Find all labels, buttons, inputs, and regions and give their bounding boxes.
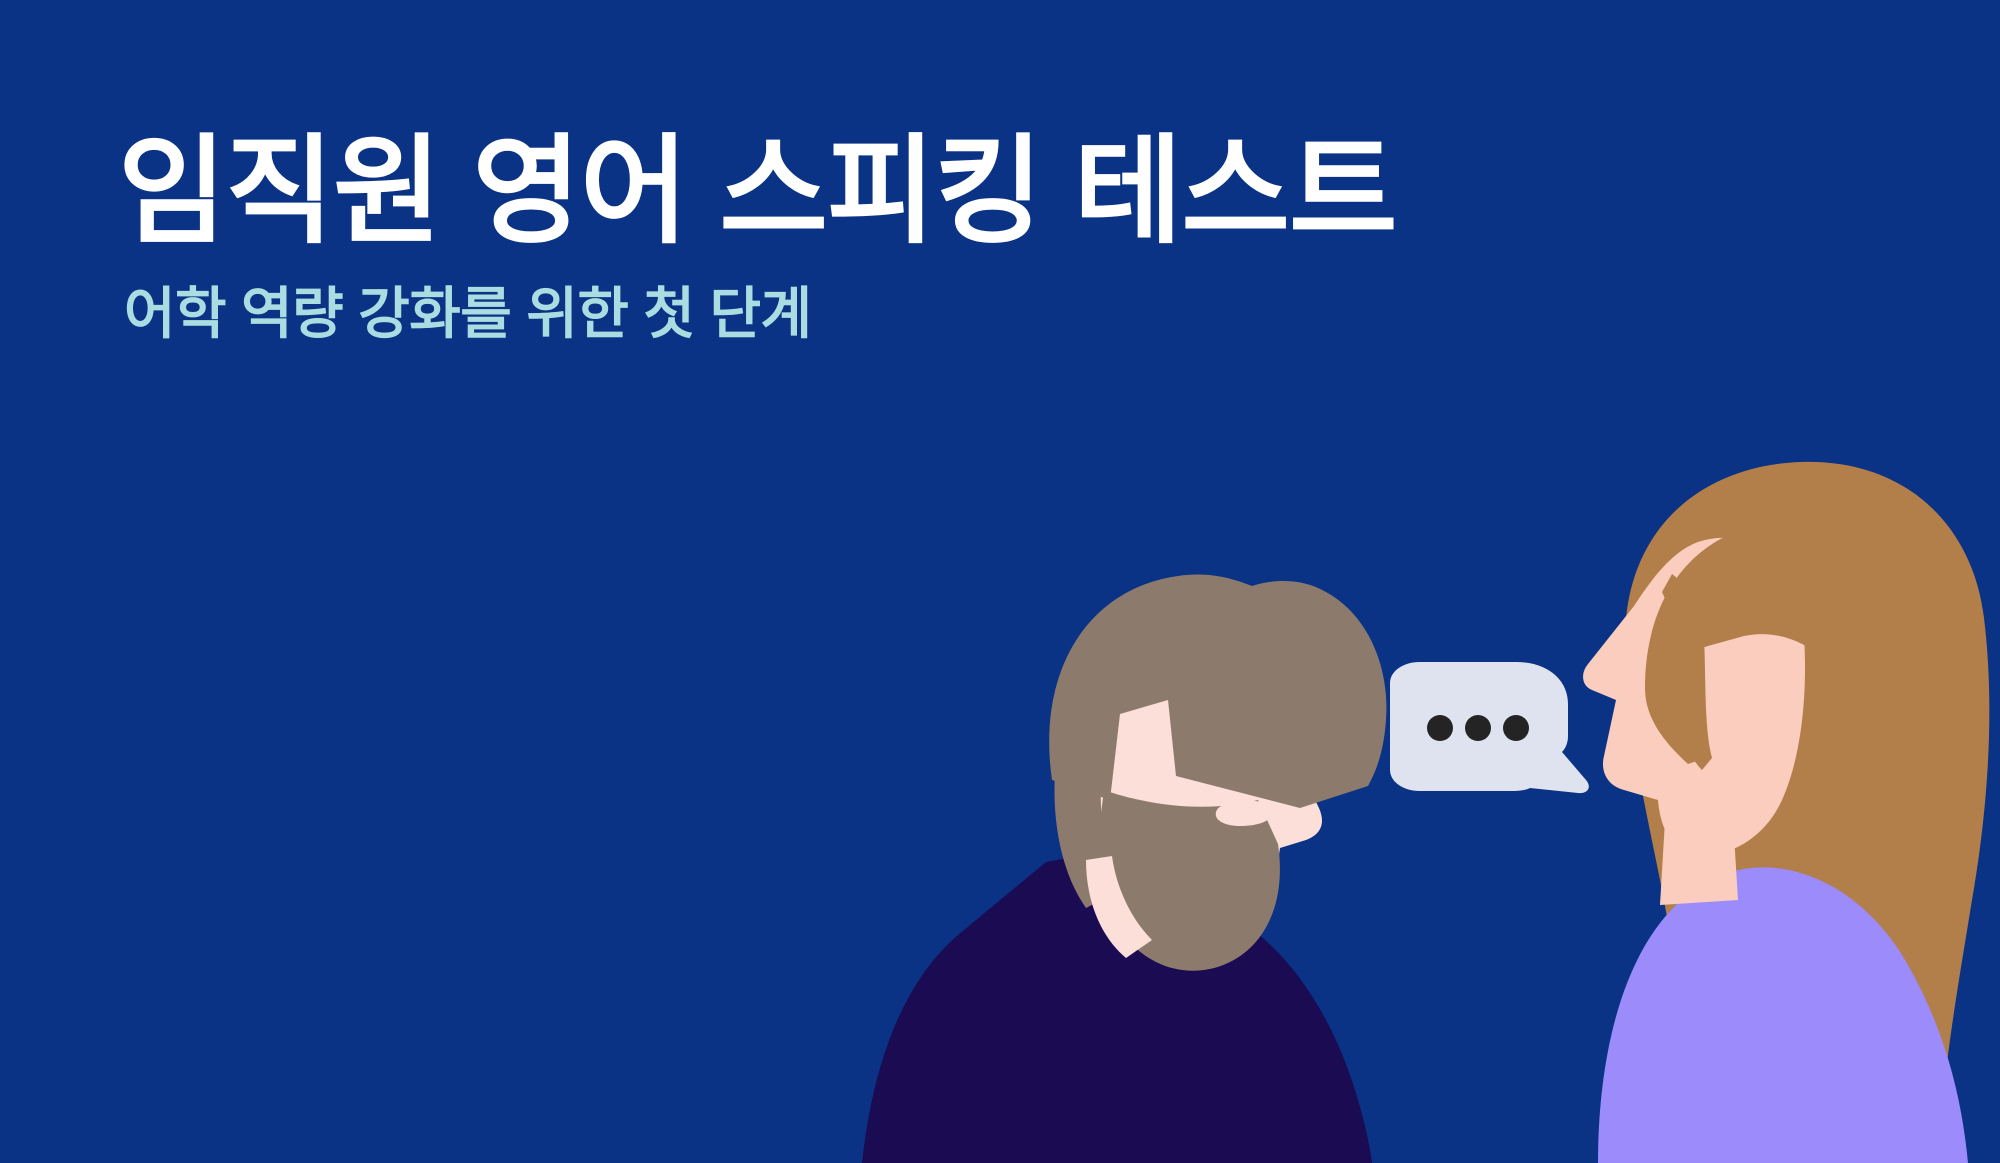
page-subtitle: 어학 역량 강화를 위한 첫 단계 <box>124 280 1718 347</box>
text-block: 임직원 영어 스피킹 테스트 어학 역량 강화를 위한 첫 단계 <box>118 126 1718 347</box>
banner-root: 임직원 영어 스피킹 테스트 어학 역량 강화를 위한 첫 단계 <box>0 0 2000 1163</box>
page-title: 임직원 영어 스피킹 테스트 <box>118 126 1718 258</box>
